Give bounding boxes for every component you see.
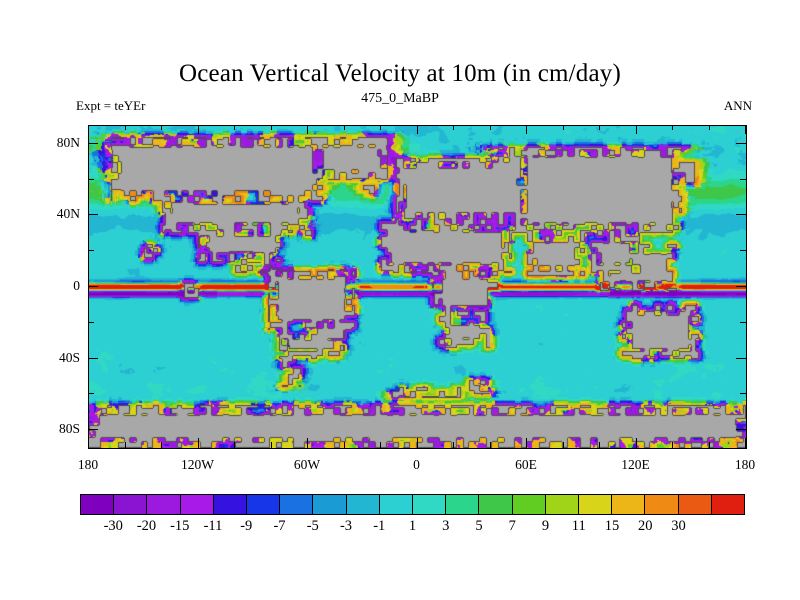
axis-tick xyxy=(234,125,235,130)
axis-tick xyxy=(198,125,199,134)
axis-tick xyxy=(88,429,98,430)
colorbar-band xyxy=(413,495,446,514)
axis-tick xyxy=(380,125,381,130)
y-axis-label: 80S xyxy=(36,421,80,437)
axis-tick xyxy=(740,250,746,251)
axis-tick xyxy=(417,438,418,448)
x-axis-label: 120W xyxy=(181,457,214,473)
colorbar-band xyxy=(546,495,579,514)
colorbar-band xyxy=(347,495,380,514)
colorbar-tick-label: -3 xyxy=(340,518,352,535)
y-axis-label: 40S xyxy=(36,350,80,366)
colorbar-tick-label: 15 xyxy=(605,518,620,535)
y-axis-label: 0 xyxy=(36,278,80,294)
axis-tick xyxy=(709,442,710,448)
axis-tick xyxy=(88,143,98,144)
axis-tick xyxy=(563,125,564,130)
axis-tick xyxy=(672,125,673,130)
axis-tick xyxy=(526,125,527,134)
axis-tick xyxy=(88,214,98,215)
colorbar-bands xyxy=(80,494,745,515)
axis-tick xyxy=(125,442,126,448)
colorbar-tick-label: 30 xyxy=(671,518,686,535)
axis-tick xyxy=(88,250,94,251)
axis-tick xyxy=(88,322,94,323)
axis-tick xyxy=(344,442,345,448)
colorbar-tick-label: 5 xyxy=(475,518,482,535)
colorbar-band xyxy=(712,495,744,514)
y-axis-label: 40N xyxy=(36,206,80,222)
colorbar-band xyxy=(280,495,313,514)
x-axis-label: 180 xyxy=(78,457,98,473)
axis-tick xyxy=(736,358,746,359)
colorbar-band xyxy=(513,495,546,514)
colorbar-band xyxy=(247,495,280,514)
axis-tick xyxy=(745,438,746,448)
axis-tick xyxy=(198,438,199,448)
colorbar-band xyxy=(81,495,114,514)
axis-tick xyxy=(490,125,491,130)
axis-tick xyxy=(453,442,454,448)
axis-tick xyxy=(736,286,746,287)
colorbar-band xyxy=(446,495,479,514)
axis-tick xyxy=(125,125,126,130)
axis-tick xyxy=(599,442,600,448)
colorbar-tick-label: -7 xyxy=(273,518,285,535)
page-title: Ocean Vertical Velocity at 10m (in cm/da… xyxy=(0,60,800,88)
colorbar-tick-label: -20 xyxy=(137,518,156,535)
axis-tick xyxy=(380,442,381,448)
y-axis-label: 80N xyxy=(36,135,80,151)
experiment-label: Expt = teYEr xyxy=(76,98,145,114)
colorbar-tick-label: -5 xyxy=(307,518,319,535)
axis-tick xyxy=(344,125,345,130)
axis-tick xyxy=(271,442,272,448)
axis-tick xyxy=(490,442,491,448)
axis-tick xyxy=(307,125,308,134)
axis-tick xyxy=(88,125,89,134)
axis-tick xyxy=(307,438,308,448)
axis-tick xyxy=(672,442,673,448)
axis-tick xyxy=(736,214,746,215)
colorbar-band xyxy=(214,495,247,514)
colorbar-tick-label: 3 xyxy=(442,518,449,535)
colorbar-tick-label: 7 xyxy=(509,518,516,535)
axis-tick xyxy=(88,286,98,287)
axis-tick xyxy=(636,438,637,448)
axis-tick xyxy=(453,125,454,130)
axis-tick xyxy=(740,393,746,394)
axis-tick xyxy=(563,442,564,448)
colorbar-band xyxy=(579,495,612,514)
axis-tick xyxy=(736,143,746,144)
axis-tick xyxy=(740,322,746,323)
axis-tick xyxy=(234,442,235,448)
colorbar-tick-label: -1 xyxy=(373,518,385,535)
axis-tick xyxy=(271,125,272,130)
x-axis-label: 180 xyxy=(735,457,755,473)
axis-tick xyxy=(736,429,746,430)
axis-tick xyxy=(417,125,418,134)
colorbar-band xyxy=(679,495,712,514)
period-label: ANN xyxy=(724,98,752,114)
colorbar-tick-label: 20 xyxy=(638,518,653,535)
colorbar-band xyxy=(313,495,346,514)
axis-tick xyxy=(709,125,710,130)
axis-tick xyxy=(745,125,746,134)
axis-tick xyxy=(88,393,94,394)
ocean-vertical-velocity-figure: Ocean Vertical Velocity at 10m (in cm/da… xyxy=(0,0,800,600)
colorbar-tick-label: 9 xyxy=(542,518,549,535)
axis-tick xyxy=(88,358,98,359)
colorbar-tick-label: -9 xyxy=(240,518,252,535)
axis-tick xyxy=(161,125,162,130)
colorbar-band xyxy=(380,495,413,514)
axis-tick xyxy=(599,125,600,130)
colorbar-band xyxy=(181,495,214,514)
colorbar-tick-label: 1 xyxy=(409,518,416,535)
colorbar-band xyxy=(147,495,180,514)
colorbar-tick-label: -11 xyxy=(204,518,223,535)
colorbar-tick-label: -15 xyxy=(170,518,189,535)
axis-tick xyxy=(740,179,746,180)
colorbar-band xyxy=(114,495,147,514)
velocity-field-canvas xyxy=(89,126,746,448)
axis-tick xyxy=(88,179,94,180)
x-axis-label: 0 xyxy=(413,457,420,473)
colorbar-band xyxy=(612,495,645,514)
axis-tick xyxy=(88,438,89,448)
x-axis-label: 120E xyxy=(621,457,650,473)
colorbar-tick-label: -30 xyxy=(104,518,123,535)
map-plot-area xyxy=(88,125,747,449)
x-axis-label: 60E xyxy=(515,457,537,473)
colorbar-band xyxy=(479,495,512,514)
axis-tick xyxy=(636,125,637,134)
colorbar xyxy=(80,494,745,515)
axis-tick xyxy=(526,438,527,448)
colorbar-tick-label: 11 xyxy=(572,518,586,535)
x-axis-label: 60W xyxy=(294,457,320,473)
axis-tick xyxy=(161,442,162,448)
colorbar-band xyxy=(645,495,678,514)
